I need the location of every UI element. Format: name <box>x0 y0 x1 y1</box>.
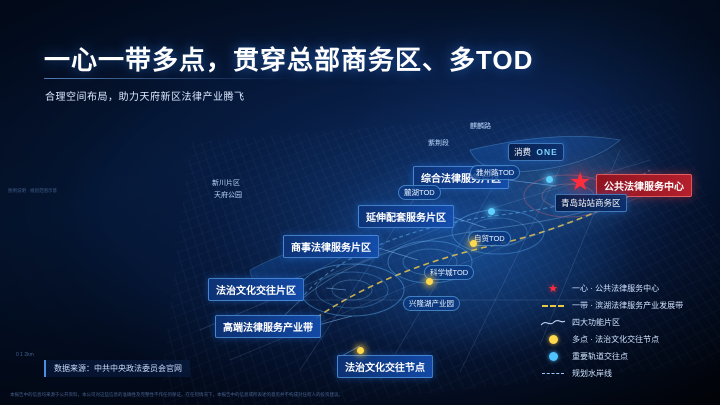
node-rail-1[interactable] <box>546 176 553 183</box>
legend-item-5: 规划水岸线 <box>540 365 705 382</box>
page-title: 一心一带多点，贯穿总部商务区、多TOD <box>44 40 533 77</box>
business-district-label[interactable]: 青岛站站商务区 <box>555 194 627 212</box>
zone-label-commercial-legal[interactable]: 商事法律服务片区 <box>283 235 379 258</box>
zone-label-rule-of-law-culture[interactable]: 法治文化交往片区 <box>208 278 304 301</box>
legend-label-4: 重要轨道交往点 <box>572 351 628 362</box>
tod-label-1[interactable]: 雅州路TOD <box>470 165 520 180</box>
wave-line-icon <box>540 319 566 327</box>
place-label-0: 麒麟路 <box>470 121 491 131</box>
zone-label-culture-node[interactable]: 法治文化交往节点 <box>337 355 433 378</box>
map-poster: 一心一带多点，贯穿总部商务区、多TOD 合理空间布局，助力天府新区法律产业腾飞 … <box>0 0 720 405</box>
place-label-3: 天府公园 <box>214 190 242 200</box>
disclaimer-note: 本报告中的信息均来源于公开资料，本公司对这些信息的准确性及完整性不作任何保证。在… <box>10 392 710 399</box>
scale-bar-label: 0 1 2km <box>16 352 34 358</box>
legend-label-1: 一带 · 滨湖法律服务产业发展带 <box>572 300 683 311</box>
legend-item-1: 一带 · 滨湖法律服务产业发展带 <box>540 297 705 314</box>
tod-label-0[interactable]: 麓湖TOD <box>398 185 441 200</box>
node-rail-0[interactable] <box>488 208 495 215</box>
tod-label-4[interactable]: 兴隆湖产业园 <box>403 296 460 311</box>
place-label-2: 新川片区 <box>212 178 240 188</box>
brand-label: ONE <box>536 147 557 157</box>
left-margin-note: 图例说明 · 规划范围示意 <box>8 188 57 194</box>
node-culture-2[interactable] <box>426 278 433 285</box>
brand-badge: 消费 ONE <box>508 143 564 161</box>
legend-item-0: ★ 一心 · 公共法律服务中心 <box>540 280 705 297</box>
zone-label-extended-support[interactable]: 延伸配套服务片区 <box>358 205 454 228</box>
legend-label-2: 四大功能片区 <box>572 317 620 328</box>
blue-dot-icon <box>540 352 566 361</box>
zone-label-high-end-belt[interactable]: 高端法律服务产业带 <box>215 315 321 338</box>
legend: ★ 一心 · 公共法律服务中心 一带 · 滨湖法律服务产业发展带 四大功能片区 … <box>540 280 705 382</box>
page-subtitle: 合理空间布局，助力天府新区法律产业腾飞 <box>45 88 245 103</box>
legend-label-3: 多点 · 法治文化交往节点 <box>572 334 659 345</box>
legend-item-4: 重要轨道交往点 <box>540 348 705 365</box>
red-star-icon: ★ <box>540 282 566 295</box>
node-culture-1[interactable] <box>470 240 477 247</box>
core-star-icon: ★ <box>569 170 591 195</box>
legend-label-0: 一心 · 公共法律服务中心 <box>572 283 659 294</box>
dashed-line-icon <box>540 373 566 374</box>
title-divider <box>44 78 294 79</box>
yellow-dashed-line-icon <box>540 305 566 307</box>
source-note: 数据来源：中共中央政法委员会官网 <box>44 360 190 377</box>
brand-prefix: 消费 <box>514 147 531 157</box>
legend-item-3: 多点 · 法治文化交往节点 <box>540 331 705 348</box>
legend-item-2: 四大功能片区 <box>540 314 705 331</box>
legend-label-5: 规划水岸线 <box>572 368 612 379</box>
yellow-dot-icon <box>540 335 566 344</box>
node-culture-0[interactable] <box>357 347 364 354</box>
place-label-1: 紫荆段 <box>428 138 449 148</box>
